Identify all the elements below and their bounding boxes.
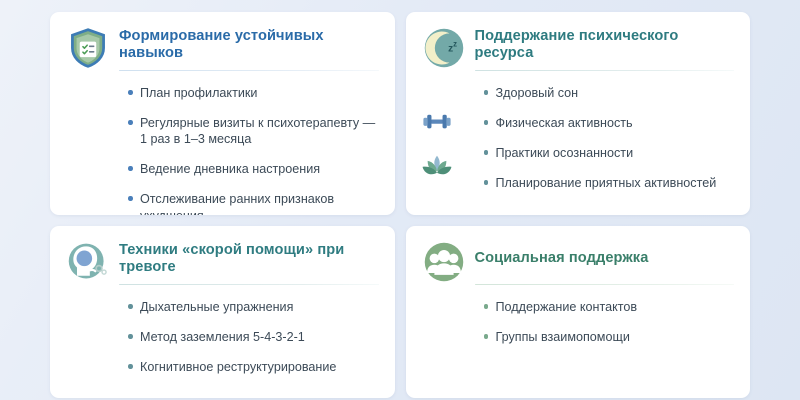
people-group-icon <box>422 240 466 284</box>
card-title: Техники «скорой помощи» при тревоге <box>119 242 379 283</box>
list-item: Ведение дневника настроения <box>128 161 379 177</box>
list-item: Физическая активность <box>484 115 735 131</box>
card-item-list: Здоровый сон Физическая активность Практ… <box>422 71 735 191</box>
card-item-list: План профилактики Регулярные визиты к пс… <box>66 71 379 215</box>
infographic-board: Формирование устойчивых навыков План про… <box>0 0 800 400</box>
list-item: Регулярные визиты к психотерапевту — 1 р… <box>128 115 379 147</box>
list-item: Поддержание контактов <box>484 299 735 315</box>
card-item-list: Дыхательные упражнения Метод заземления … <box>66 285 379 375</box>
card-header: z z Поддержание психического ресурса <box>422 26 735 70</box>
card-header: Социальная поддержка <box>422 240 735 284</box>
card-social-support: Социальная поддержка Поддержание контакт… <box>406 226 751 398</box>
list-item: Метод заземления 5-4-3-2-1 <box>128 329 379 345</box>
card-emergency-techniques: Техники «скорой помощи» при тревоге Дыха… <box>50 226 395 398</box>
list-item: Практики осознанности <box>484 145 735 161</box>
list-item: Дыхательные упражнения <box>128 299 379 315</box>
moon-sleep-icon: z z <box>422 26 466 70</box>
card-title: Социальная поддержка <box>475 250 735 274</box>
svg-text:z: z <box>453 40 457 49</box>
lotus-icon <box>420 152 454 182</box>
list-item: План профилактики <box>128 85 379 101</box>
head-breathing-icon <box>66 240 110 284</box>
card-grid: Формирование устойчивых навыков План про… <box>50 12 750 398</box>
card-mental-resource: z z Поддержание психического ресурса <box>406 12 751 215</box>
card-header: Формирование устойчивых навыков <box>66 26 379 70</box>
card-title: Формирование устойчивых навыков <box>119 28 379 69</box>
card-title: Поддержание психического ресурса <box>475 28 735 69</box>
list-item: Группы взаимопомощи <box>484 329 735 345</box>
shield-checklist-icon <box>66 26 110 70</box>
list-item: Когнитивное реструктурирование <box>128 359 379 375</box>
dumbbell-icon <box>420 109 454 139</box>
card-header: Техники «скорой помощи» при тревоге <box>66 240 379 284</box>
card-skills: Формирование устойчивых навыков План про… <box>50 12 395 215</box>
list-item: Отслеживание ранних признаков ухудшения <box>128 191 379 215</box>
card-item-list: Поддержание контактов Группы взаимопомощ… <box>422 285 735 345</box>
list-item: Планирование приятных активностей <box>484 175 735 191</box>
list-item: Здоровый сон <box>484 85 735 101</box>
